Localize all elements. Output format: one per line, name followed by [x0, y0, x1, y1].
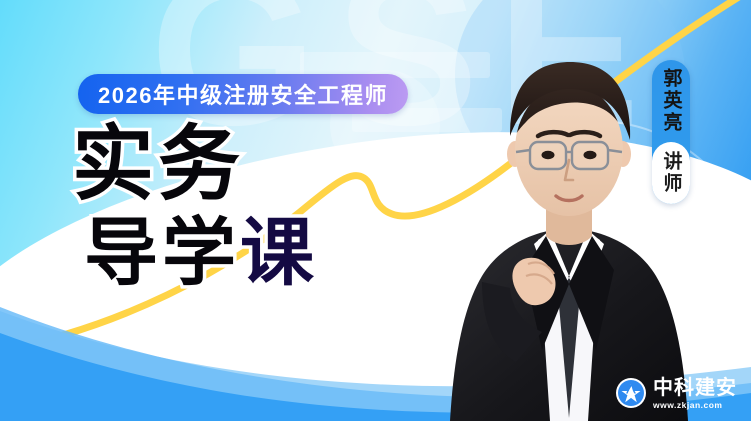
logo-text-group: 中科建安 www.zkjan.com — [653, 378, 737, 410]
instructor-role: 讲师 — [662, 151, 681, 195]
instructor-role-pill: 讲师 — [652, 142, 690, 204]
logo-website-url: www.zkjan.com — [653, 401, 737, 410]
course-poster: GSE 2026年中级注册安全工程师 实务 导学课 — [0, 0, 751, 421]
headline-line-2: 导学课 — [84, 217, 318, 290]
page-title: 实务 导学课 — [72, 125, 318, 290]
instructor-name-badge: 郭英亮 讲师 — [652, 60, 690, 204]
course-year-badge-label: 2026年中级注册安全工程师 — [98, 78, 388, 110]
logo-star-icon — [616, 378, 646, 408]
headline-line-2-accent: 课 — [240, 211, 318, 294]
course-year-badge: 2026年中级注册安全工程师 — [78, 74, 408, 114]
instructor-name: 郭英亮 — [662, 68, 681, 142]
headline-line-1: 实务 — [72, 125, 318, 205]
logo-brand-name: 中科建安 — [653, 378, 737, 398]
headline-line-2-main: 导学 — [84, 211, 240, 294]
brand-logo: 中科建安 www.zkjan.com — [616, 378, 737, 410]
